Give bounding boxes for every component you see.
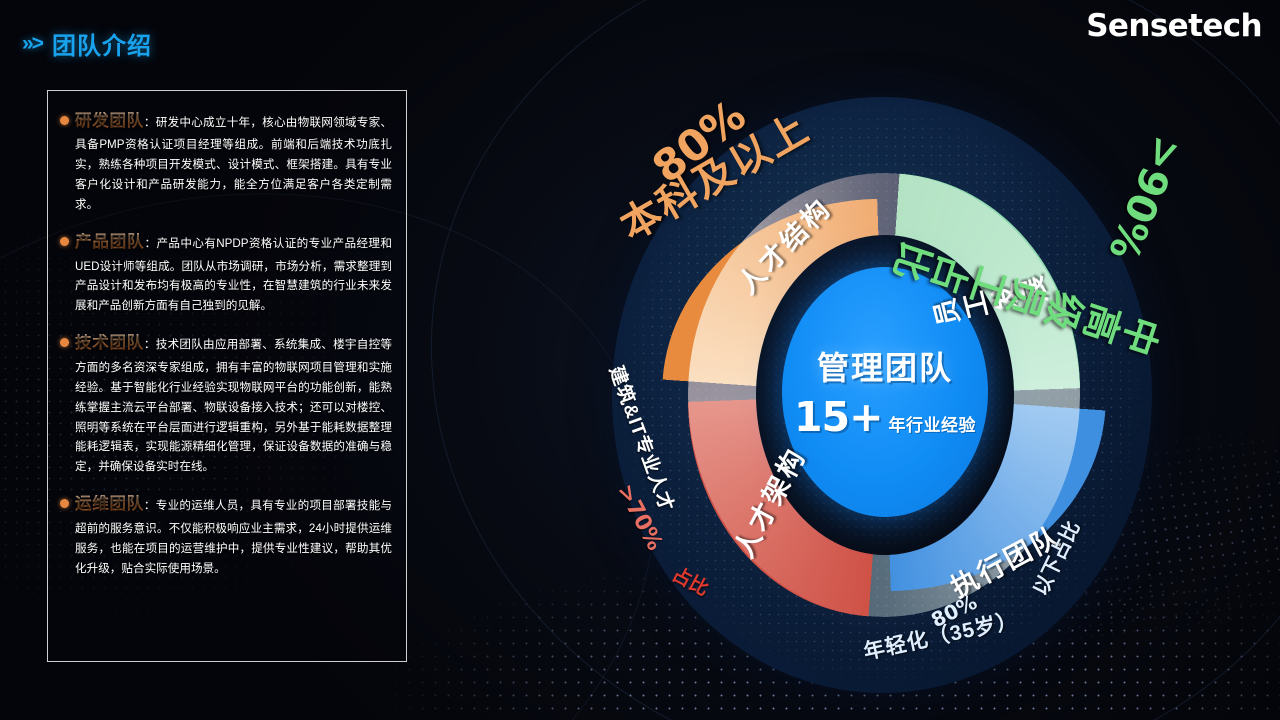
- bullet-dot-icon: [60, 237, 69, 246]
- paragraph-colon: ：: [144, 116, 156, 129]
- page-title: 团队介绍: [52, 26, 152, 61]
- bullet-dot-icon: [60, 338, 69, 347]
- header: »> 团队介绍 Sensetech: [0, 0, 1280, 64]
- list-item: 运维团队：专业的运维人员，具有专业的项目部署技能与超前的服务意识。不仅能积极响应…: [60, 490, 392, 578]
- paragraph-colon: ：: [144, 338, 156, 351]
- team-description-panel: 研发团队：研发中心成立十年，核心由物联网领域专家、具备PMP资格认证项目经理等组…: [47, 90, 407, 662]
- center-unit: 年行业经验: [888, 411, 976, 436]
- paragraph-text: 技术团队：技术团队由应用部署、系统集成、楼宇自控等方面的多名资深专家组成，拥有丰…: [75, 329, 392, 477]
- center-stat: 15+ 年行业经验: [794, 393, 976, 441]
- paragraph-text: 研发团队：研发中心成立十年，核心由物联网领域专家、具备PMP资格认证项目经理等组…: [75, 107, 392, 215]
- slide-canvas: »> 团队介绍 Sensetech 研发团队：研发中心成立十年，核心由物联网领域…: [0, 0, 1280, 720]
- paragraph-body: 技术团队由应用部署、系统集成、楼宇自控等方面的多名资深专家组成，拥有丰富的物联网…: [75, 338, 392, 473]
- paragraph-text: 产品团队：产品中心有NPDP资格认证的专业产品经理和UED设计师等组成。团队从市…: [75, 228, 392, 316]
- paragraph-text: 运维团队：专业的运维人员，具有专业的项目部署技能与超前的服务意识。不仅能积极响应…: [75, 490, 392, 578]
- paragraph-heading: 产品团队: [75, 233, 144, 251]
- paragraph-heading: 技术团队: [75, 334, 144, 352]
- center-number: 15+: [794, 393, 882, 441]
- paragraph-colon: ：: [144, 237, 156, 250]
- paragraph-body: 研发中心成立十年，核心由物联网领域专家、具备PMP资格认证项目经理等组成。前端和…: [75, 116, 392, 211]
- center-title: 管理团队: [817, 343, 953, 389]
- page-title-group: »> 团队介绍: [22, 26, 152, 61]
- list-item: 技术团队：技术团队由应用部署、系统集成、楼宇自控等方面的多名资深专家组成，拥有丰…: [60, 329, 392, 477]
- bullet-dot-icon: [60, 499, 69, 508]
- paragraph-colon: ：: [144, 499, 156, 512]
- team-donut-chart: 管理团队 15+ 年行业经验 人才结构 员工发展 执行团队 人才架构 80% 本…: [560, 75, 1200, 715]
- chevrons-right-icon: »>: [22, 32, 42, 56]
- brand-logo: Sensetech: [1086, 8, 1262, 44]
- paragraph-heading: 运维团队: [75, 495, 144, 513]
- list-item: 研发团队：研发中心成立十年，核心由物联网领域专家、具备PMP资格认证项目经理等组…: [60, 107, 392, 215]
- paragraph-heading: 研发团队: [75, 112, 144, 130]
- list-item: 产品团队：产品中心有NPDP资格认证的专业产品经理和UED设计师等组成。团队从市…: [60, 228, 392, 316]
- bullet-dot-icon: [60, 116, 69, 125]
- outer-percent-staff-development: >90%: [1099, 129, 1190, 266]
